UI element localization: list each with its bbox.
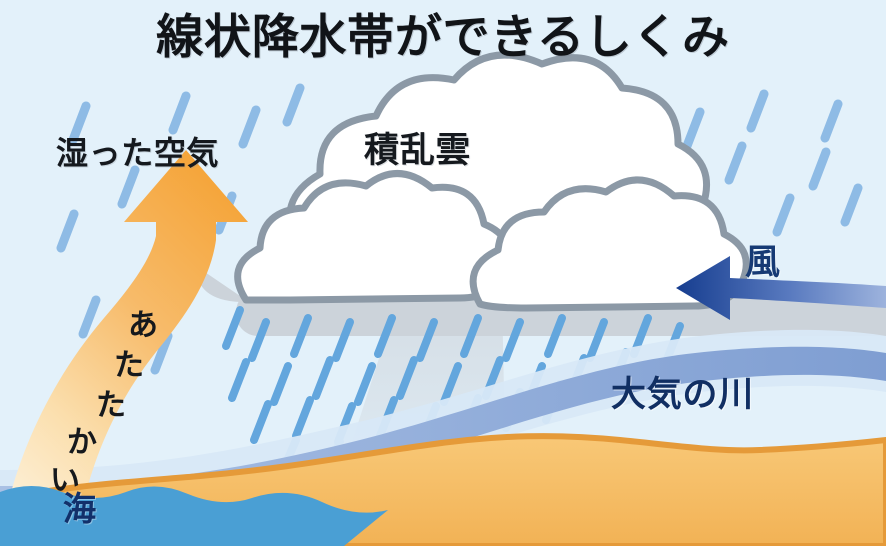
label-sea: 海: [63, 492, 97, 525]
page-title: 線状降水帯ができるしくみ: [0, 14, 886, 61]
label-atmospheric-river: 大気の川: [611, 378, 754, 413]
label-cumulonimbus: 積乱雲: [364, 134, 471, 169]
label-wind: 風: [745, 246, 781, 281]
weather-diagram: 線状降水帯ができるしくみ 湿った空気 積乱雲 風 大気の川 海 あ た た か …: [0, 0, 886, 546]
label-moist-air: 湿った空気: [56, 137, 219, 169]
